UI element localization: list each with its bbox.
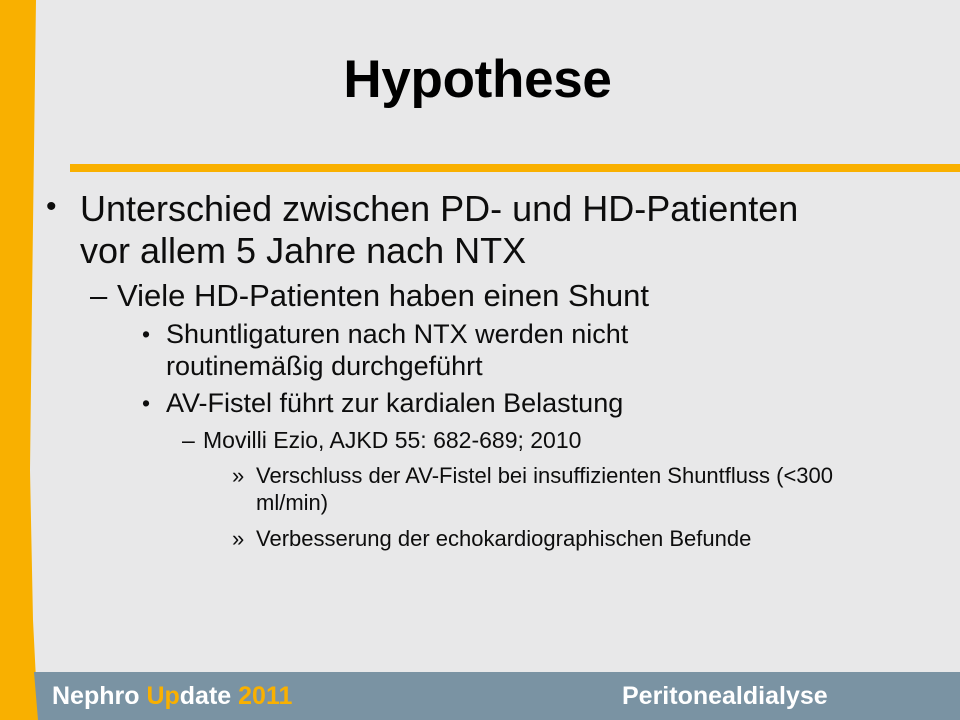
bullet-level4-citation: – Movilli Ezio, AJKD 55: 682-689; 2010 — [182, 427, 946, 454]
presentation-slide: Hypothese • Unterschied zwischen PD- und… — [0, 0, 960, 720]
bullet-level5-text: Verbesserung der echokardiographischen B… — [256, 526, 906, 553]
footer-brand-nephro: Nephro — [52, 682, 146, 710]
slide-footer: Nephro Update 2011 Peritonealdialyse — [0, 672, 960, 720]
bullet-level3-text: AV-Fistel führt zur kardialen Belastung — [166, 388, 766, 420]
bullet-level2: – Viele HD-Patienten haben einen Shunt — [90, 278, 946, 314]
bullet-level3-text: Shuntligaturen nach NTX werden nicht rou… — [166, 319, 766, 383]
bullet-marker-dash-icon: – — [182, 427, 203, 454]
bullet-level1-text: Unterschied zwischen PD- und HD-Patiente… — [80, 188, 850, 272]
title-zone: Hypothese — [0, 0, 960, 164]
page-title: Hypothese — [70, 52, 885, 108]
bullet-level5-text: Verschluss der AV-Fistel bei insuffizien… — [256, 463, 906, 517]
footer-brand: Nephro Update 2011 — [52, 682, 292, 711]
bullet-marker-dot-icon: • — [46, 188, 80, 226]
bullet-level3-item: • AV-Fistel führt zur kardialen Belastun… — [142, 388, 946, 420]
footer-topic: Peritonealdialyse — [622, 682, 828, 711]
bullet-marker-dot-icon: • — [142, 319, 166, 349]
bullet-level1: • Unterschied zwischen PD- und HD-Patien… — [46, 188, 946, 272]
bullet-level2-text: Viele HD-Patienten haben einen Shunt — [117, 278, 946, 314]
bullet-level5-item: » Verbesserung der echokardiographischen… — [232, 526, 946, 553]
bullet-marker-guillemet-icon: » — [232, 526, 256, 553]
bullet-marker-dot-icon: • — [142, 388, 166, 418]
bullet-marker-dash-icon: – — [90, 278, 117, 314]
bullet-marker-guillemet-icon: » — [232, 463, 256, 490]
footer-brand-year: 2011 — [238, 682, 292, 710]
footer-brand-up: Up — [146, 682, 179, 710]
bullet-level5-item: » Verschluss der AV-Fistel bei insuffizi… — [232, 463, 946, 517]
citation-text: Movilli Ezio, AJKD 55: 682-689; 2010 — [203, 427, 946, 454]
slide-body: • Unterschied zwischen PD- und HD-Patien… — [46, 188, 946, 648]
title-divider-rule — [70, 164, 960, 172]
bullet-level3-item: • Shuntligaturen nach NTX werden nicht r… — [142, 319, 946, 383]
footer-brand-date: date — [180, 682, 238, 710]
